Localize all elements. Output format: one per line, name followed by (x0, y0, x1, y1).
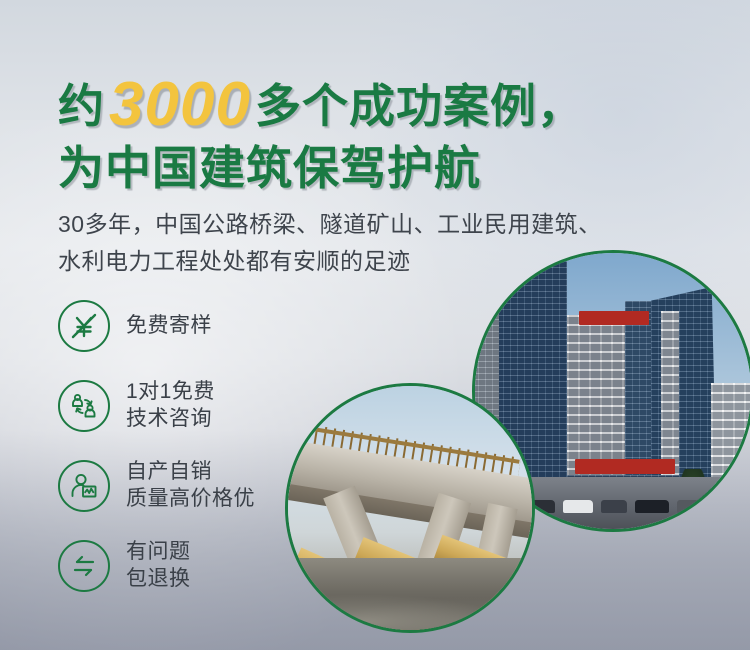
promo-banner: 约3000多个成功案例， 为中国建筑保驾护航 30多年，中国公路桥梁、隧道矿山、… (0, 0, 750, 650)
bridge-photo-inner (288, 386, 532, 630)
car (677, 500, 703, 513)
rooftop-sign (579, 311, 649, 325)
car (635, 500, 669, 513)
feature-line-1: 有问题 (126, 539, 191, 566)
facade-sign (575, 459, 675, 474)
headline-prefix: 约 (58, 80, 105, 132)
headline-line-2: 为中国建筑保驾护航 (58, 145, 698, 191)
feature-line-1: 免费寄样 (126, 314, 212, 337)
feature-line-1: 自产自销 (126, 459, 255, 486)
feature-line-2: 质量高价格优 (126, 486, 255, 513)
feature-line-2: 包退换 (126, 566, 191, 593)
feature-item-free-sample: 免费寄样 (58, 297, 338, 355)
bridge-photo (285, 383, 535, 633)
headline-suffix: 多个成功案例， (255, 80, 584, 132)
one-on-one-consult-icon (58, 380, 110, 432)
bridge-rubble (288, 590, 532, 630)
feature-label: 自产自销 质量高价格优 (126, 459, 255, 513)
feature-label: 有问题 包退换 (126, 539, 191, 593)
car (563, 500, 593, 513)
headline-number: 3000 (105, 70, 255, 139)
self-produced-quality-icon (58, 460, 110, 512)
feature-line-2: 技术咨询 (126, 406, 215, 433)
feature-label: 免费寄样 (126, 313, 212, 340)
car (601, 500, 627, 513)
return-exchange-icon (58, 540, 110, 592)
headline-line-1: 约3000多个成功案例， (58, 74, 698, 136)
feature-label: 1对1免费 技术咨询 (126, 379, 215, 433)
headline-block: 约3000多个成功案例， 为中国建筑保驾护航 (58, 74, 698, 191)
subtitle-line-1: 30多年，中国公路桥梁、隧道矿山、工业民用建筑、 (58, 206, 718, 243)
feature-line-1: 1对1免费 (126, 379, 215, 406)
headline-tagline: 为中国建筑保驾护航 (58, 142, 481, 194)
free-sample-icon (58, 300, 110, 352)
